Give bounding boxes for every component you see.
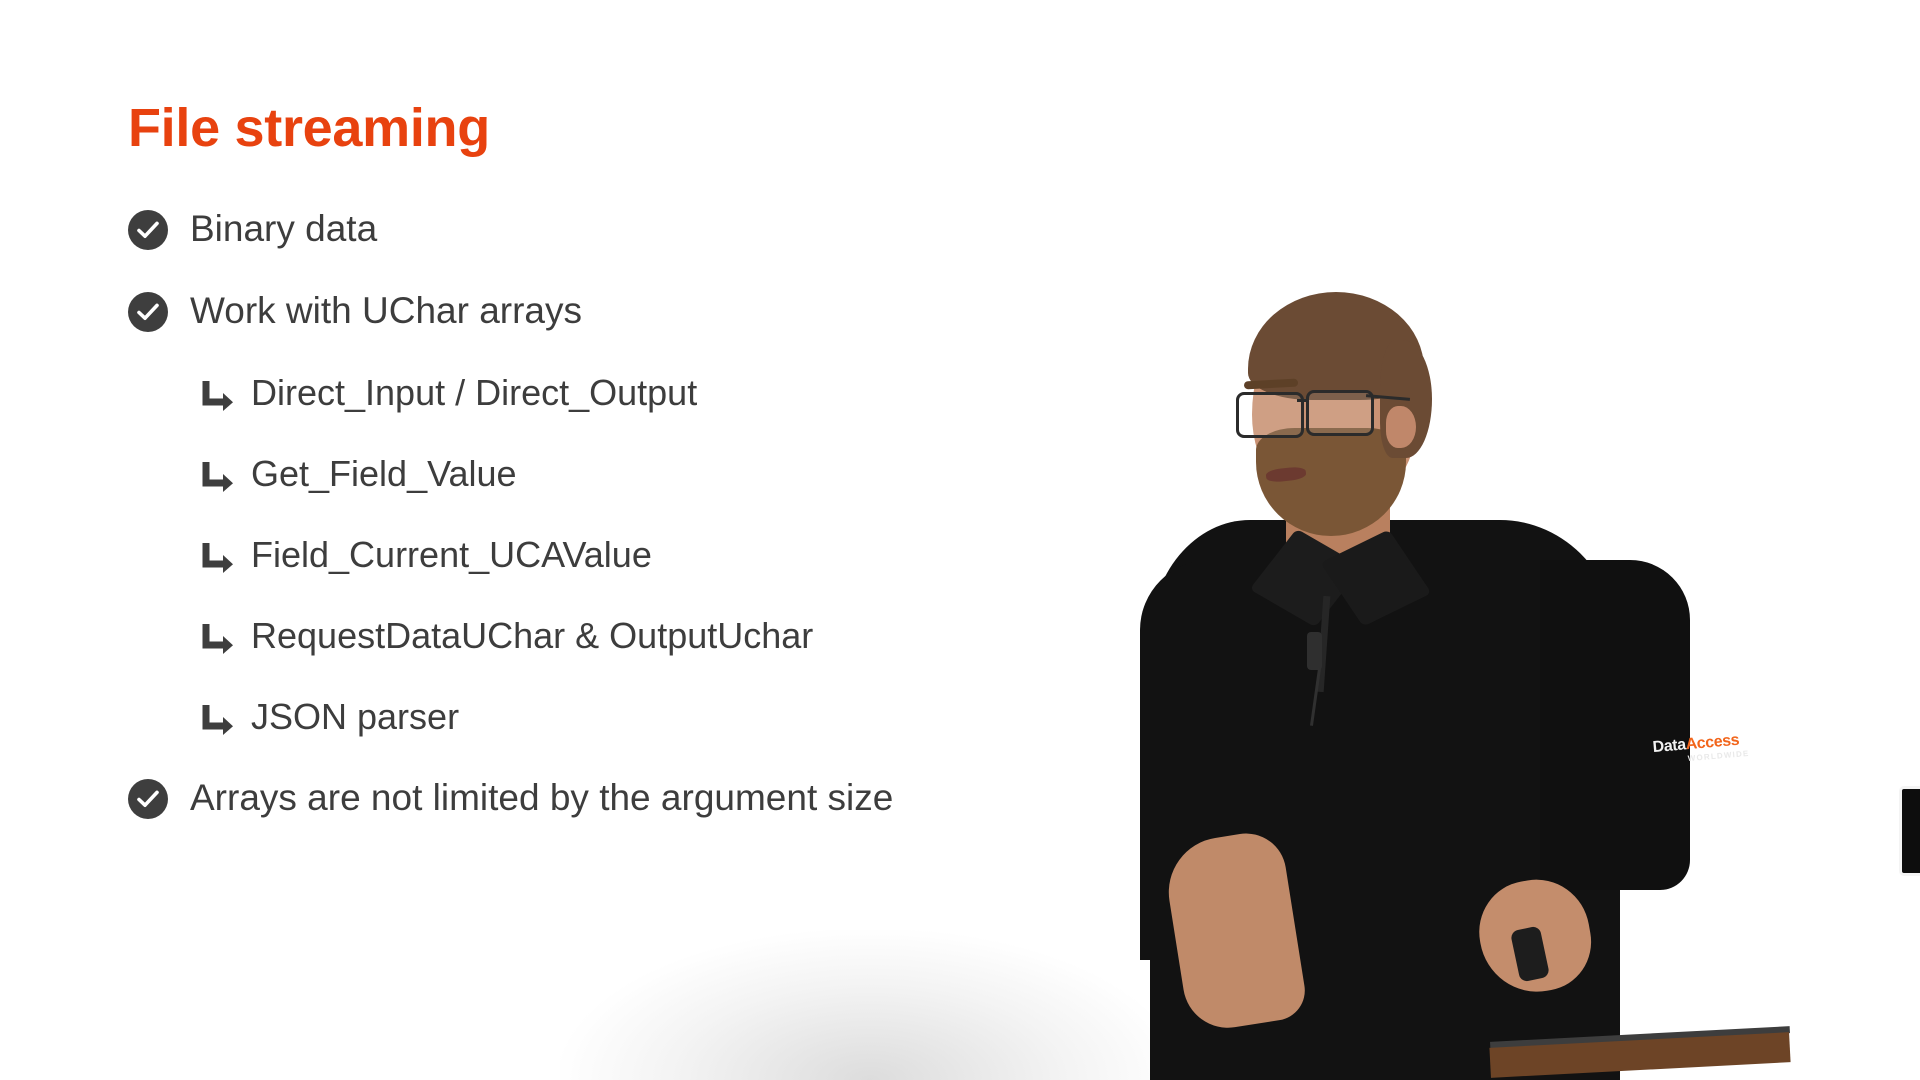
glasses-left-lens-icon [1236,392,1304,438]
list-item-label: Get_Field_Value [251,454,517,494]
logo-word-data: Data [1652,736,1686,756]
check-circle-icon [128,210,168,250]
list-item: Work with UChar arrays [128,271,1308,353]
list-item-label: Work with UChar arrays [190,291,582,332]
corner-down-right-arrow-icon [201,697,237,737]
corner-down-right-arrow-icon [201,535,237,575]
list-item: JSON parser [128,677,1308,758]
check-circle-icon [128,779,168,819]
list-item-label: Arrays are not limited by the argument s… [190,778,893,819]
page-title: File streaming [128,100,1308,157]
list-item-label: Binary data [190,209,377,250]
lapel-microphone-icon [1307,632,1322,670]
list-item-label: RequestDataUChar & OutputUchar [251,616,813,656]
bullet-list: Binary data Work with UChar arrays [128,189,1308,840]
floor-shadow [560,930,1180,1080]
corner-down-right-arrow-icon [201,454,237,494]
list-item-label: Direct_Input / Direct_Output [251,373,697,413]
presenter-right-sleeve [1540,560,1690,890]
list-item: Get_Field_Value [128,434,1308,515]
edge-badge [1899,786,1920,876]
corner-down-right-arrow-icon [201,616,237,656]
slide-content: File streaming Binary data Work wit [128,100,1308,840]
list-item: Binary data [128,189,1308,271]
list-item: RequestDataUChar & OutputUchar [128,596,1308,677]
glasses-bridge [1297,399,1309,402]
list-item: Field_Current_UCAValue [128,515,1308,596]
list-item: Arrays are not limited by the argument s… [128,758,1308,840]
company-logo: DataAccess WORLDWIDE [1652,732,1750,766]
corner-down-right-arrow-icon [201,373,237,413]
list-item: Direct_Input / Direct_Output [128,353,1308,434]
check-circle-icon [128,292,168,332]
presenter-ear [1386,406,1416,448]
list-item-label: JSON parser [251,697,459,737]
presentation-slide: File streaming Binary data Work wit [0,0,1920,1080]
list-item-label: Field_Current_UCAValue [251,535,652,575]
glasses-right-lens-icon [1306,390,1374,436]
